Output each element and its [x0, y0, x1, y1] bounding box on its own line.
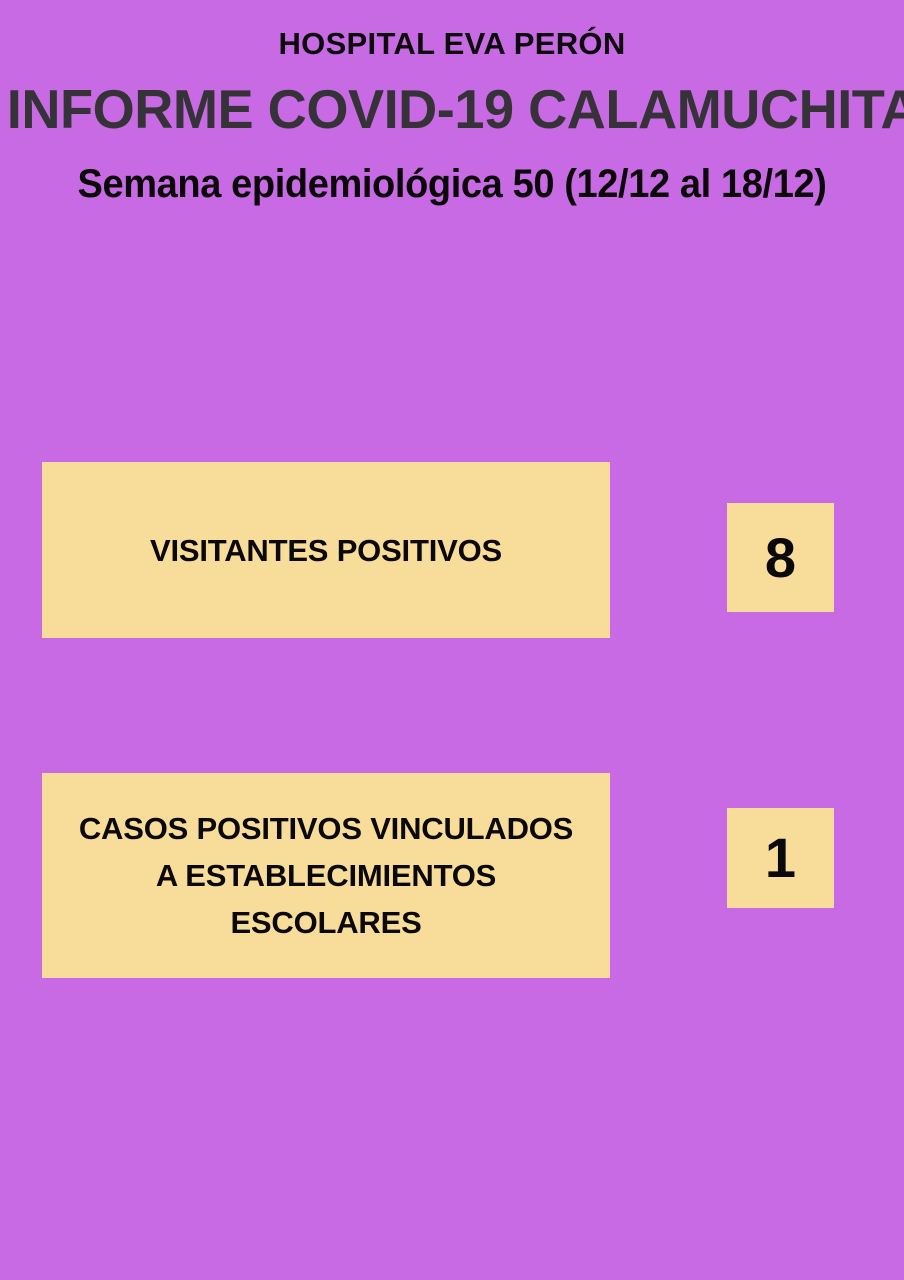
stat-label-card-visitantes-positivos: VISITANTES POSITIVOS	[42, 462, 610, 638]
stat-value-card-visitantes-positivos: 8	[727, 503, 834, 612]
stat-label-visitantes-positivos: VISITANTES POSITIVOS	[136, 527, 516, 574]
stat-label-card-casos-escolares: CASOS POSITIVOS VINCULADOS A ESTABLECIMI…	[42, 773, 610, 978]
stat-value-casos-escolares: 1	[765, 829, 796, 887]
covid-report-poster: HOSPITAL EVA PERÓN INFORME COVID-19 CALA…	[0, 0, 904, 1280]
stat-value-card-casos-escolares: 1	[727, 808, 834, 908]
stat-label-casos-escolares: CASOS POSITIVOS VINCULADOS A ESTABLECIMI…	[65, 805, 587, 946]
page-title: INFORME COVID-19 CALAMUCHITA	[7, 76, 897, 142]
organization-name: HOSPITAL EVA PERÓN	[0, 25, 904, 63]
stat-value-visitantes-positivos: 8	[765, 529, 796, 587]
epidemiological-week-subtitle: Semana epidemiológica 50 (12/12 al 18/12…	[23, 158, 882, 210]
